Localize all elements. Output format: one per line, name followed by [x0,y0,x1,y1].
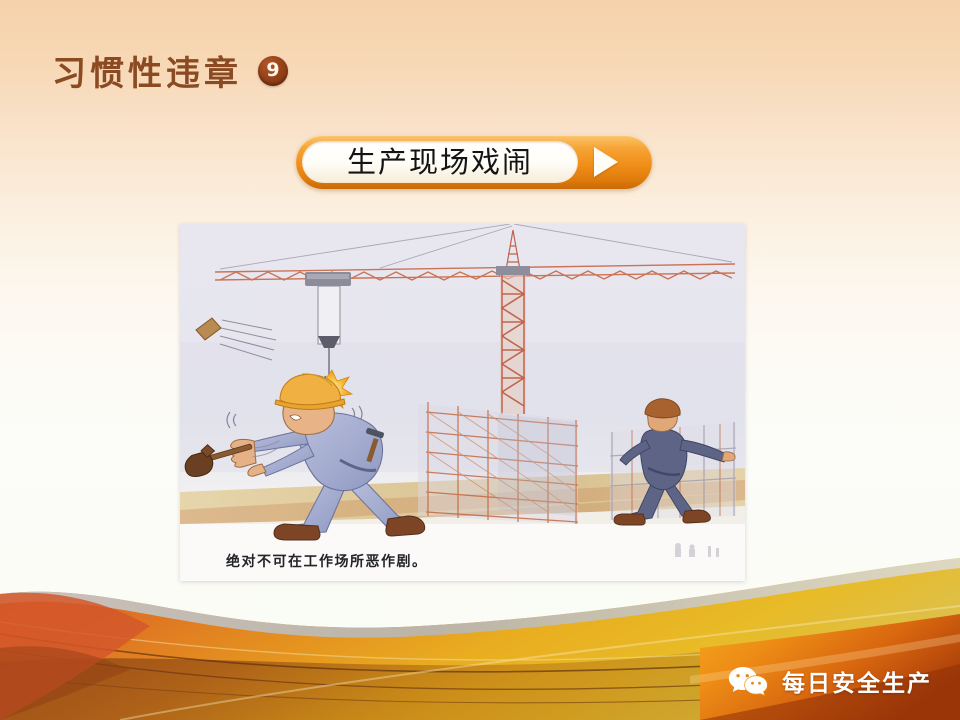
slide-canvas: 习惯性违章 9 生产现场戏闹 [0,0,960,720]
topic-banner[interactable]: 生产现场戏闹 [296,135,652,189]
footer-brand-name: 每日安全生产 [782,664,932,698]
topic-banner-label: 生产现场戏闹 [347,148,533,177]
scaffold-building [418,402,578,524]
footer-brand: 每日安全生产 [728,664,932,698]
topic-banner-inner: 生产现场戏闹 [302,141,578,183]
illustration-figure: 绝对不可在工作场所恶作剧。 [180,224,745,581]
play-triangle-icon [594,147,618,177]
wechat-icon [728,665,770,697]
illustration-caption: 绝对不可在工作场所恶作剧。 [226,551,428,571]
page-number-badge: 9 [258,56,288,86]
illustration-drawing [180,224,745,581]
page-title: 习惯性违章 9 [52,46,288,95]
page-title-text: 习惯性违章 [52,46,242,95]
